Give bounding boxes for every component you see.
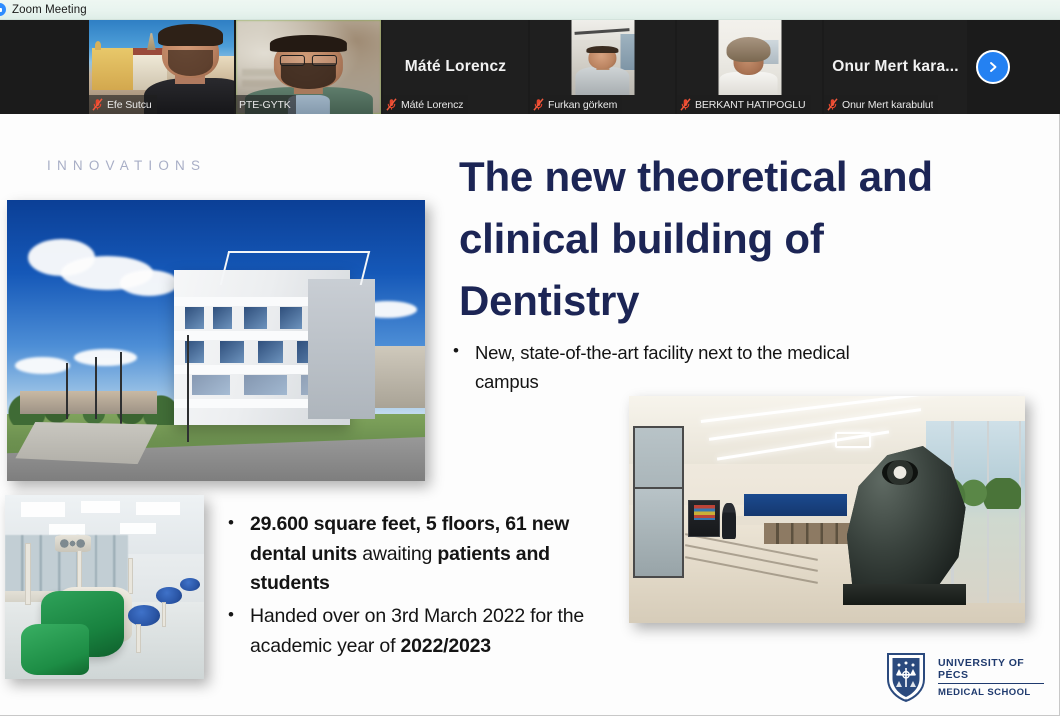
- participant-figure: [575, 46, 629, 96]
- participant-tile-furkan-gorkem[interactable]: Furkan görkem: [530, 20, 675, 114]
- bullet-text: New, state-of-the-art facility next to t…: [475, 338, 853, 396]
- bullet-segment-regular: awaiting: [362, 543, 437, 565]
- participant-name-placard: Máté Lorencz: [383, 95, 468, 114]
- bullet-text: Handed over on 3rd March 2022 for the ac…: [250, 602, 626, 661]
- bullet-item: • Handed over on 3rd March 2022 for the …: [228, 602, 626, 661]
- participant-video-feed: [718, 20, 781, 95]
- lobby-interior-photo: [629, 396, 1025, 623]
- eyeglasses-icon: [280, 55, 337, 65]
- building-exterior-photo: [7, 200, 425, 481]
- dental-clinic-photo: [5, 495, 204, 679]
- microphone-muted-icon: [533, 98, 544, 111]
- zoom-logo-icon: [0, 3, 6, 16]
- participant-name-placard: BERKANT HATIPOGLU: [677, 95, 811, 114]
- filmstrip-left-spacer: [0, 20, 89, 114]
- participant-figure: [719, 37, 777, 96]
- participant-name-placard: PTE-GYTK: [236, 95, 296, 114]
- participant-name-placard: Furkan görkem: [530, 95, 622, 114]
- microphone-muted-icon: [827, 98, 838, 111]
- participant-name-placard: Onur Mert karabulut: [824, 95, 938, 114]
- participant-tile-efe-sutcu[interactable]: Efe Sutcu: [89, 20, 234, 114]
- participant-name: Máté Lorencz: [401, 99, 463, 111]
- participant-name: BERKANT HATIPOGLU: [695, 99, 806, 111]
- bullet-item: • 29.600 square feet, 5 floors, 61 new d…: [228, 510, 626, 599]
- slide-title: The new theoretical and clinical buildin…: [459, 146, 979, 332]
- participant-filmstrip[interactable]: Efe Sutcu PTE-GYTK Máté Lore: [0, 20, 1060, 114]
- participant-tile-pte-gytk[interactable]: PTE-GYTK: [236, 20, 381, 114]
- university-shield-crest-icon: ✦: [884, 651, 928, 703]
- window-title-bar: Zoom Meeting: [0, 0, 1060, 20]
- bullet-item: • New, state-of-the-art facility next to…: [453, 338, 853, 396]
- bullet-marker: •: [228, 510, 250, 537]
- window-title: Zoom Meeting: [12, 4, 87, 16]
- participant-name: PTE-GYTK: [239, 99, 291, 111]
- faculty-name: MEDICAL SCHOOL: [938, 684, 1044, 698]
- slide-bullets-upper: • New, state-of-the-art facility next to…: [453, 338, 853, 396]
- university-logo-text: UNIVERSITY OF PÉCS MEDICAL SCHOOL: [938, 657, 1044, 698]
- participant-figure: [144, 20, 234, 114]
- bullet-text: 29.600 square feet, 5 floors, 61 new den…: [250, 510, 626, 599]
- bullet-marker: •: [453, 338, 475, 365]
- filmstrip-next-page-button[interactable]: [976, 50, 1010, 84]
- bullet-marker: •: [228, 602, 250, 629]
- participant-name: Furkan görkem: [548, 99, 617, 111]
- university-logo: ✦ UNIVERSITY OF PÉCS MEDICAL SCHOOL: [884, 649, 1044, 705]
- participant-name-placard: Efe Sutcu: [89, 95, 157, 114]
- university-name: UNIVERSITY OF PÉCS: [938, 657, 1044, 684]
- microphone-muted-icon: [386, 98, 397, 111]
- slide-eyebrow-label: INNOVATIONS: [47, 158, 206, 173]
- participant-video-feed: [571, 20, 634, 95]
- participant-name: Efe Sutcu: [107, 99, 152, 111]
- participant-tile-onur-mert-karabulut[interactable]: Onur Mert kara... Onur Mert karabulut: [824, 20, 967, 114]
- participant-tile-berkant-hatipoglu[interactable]: BERKANT HATIPOGLU: [677, 20, 822, 114]
- microphone-muted-icon: [680, 98, 691, 111]
- zoom-meeting-window: Zoom Meeting: [0, 0, 1060, 716]
- bullet-segment-bold: 2022/2023: [401, 635, 491, 657]
- shared-presentation-slide: INNOVATIONS The new theoretical and clin…: [0, 114, 1059, 715]
- participant-name: Onur Mert karabulut: [842, 99, 933, 111]
- microphone-muted-icon: [92, 98, 103, 111]
- slide-bullets-lower: • 29.600 square feet, 5 floors, 61 new d…: [228, 510, 626, 661]
- chevron-right-icon: [986, 60, 1000, 74]
- participant-tile-mate-lorencz[interactable]: Máté Lorencz Máté Lorencz: [383, 20, 528, 114]
